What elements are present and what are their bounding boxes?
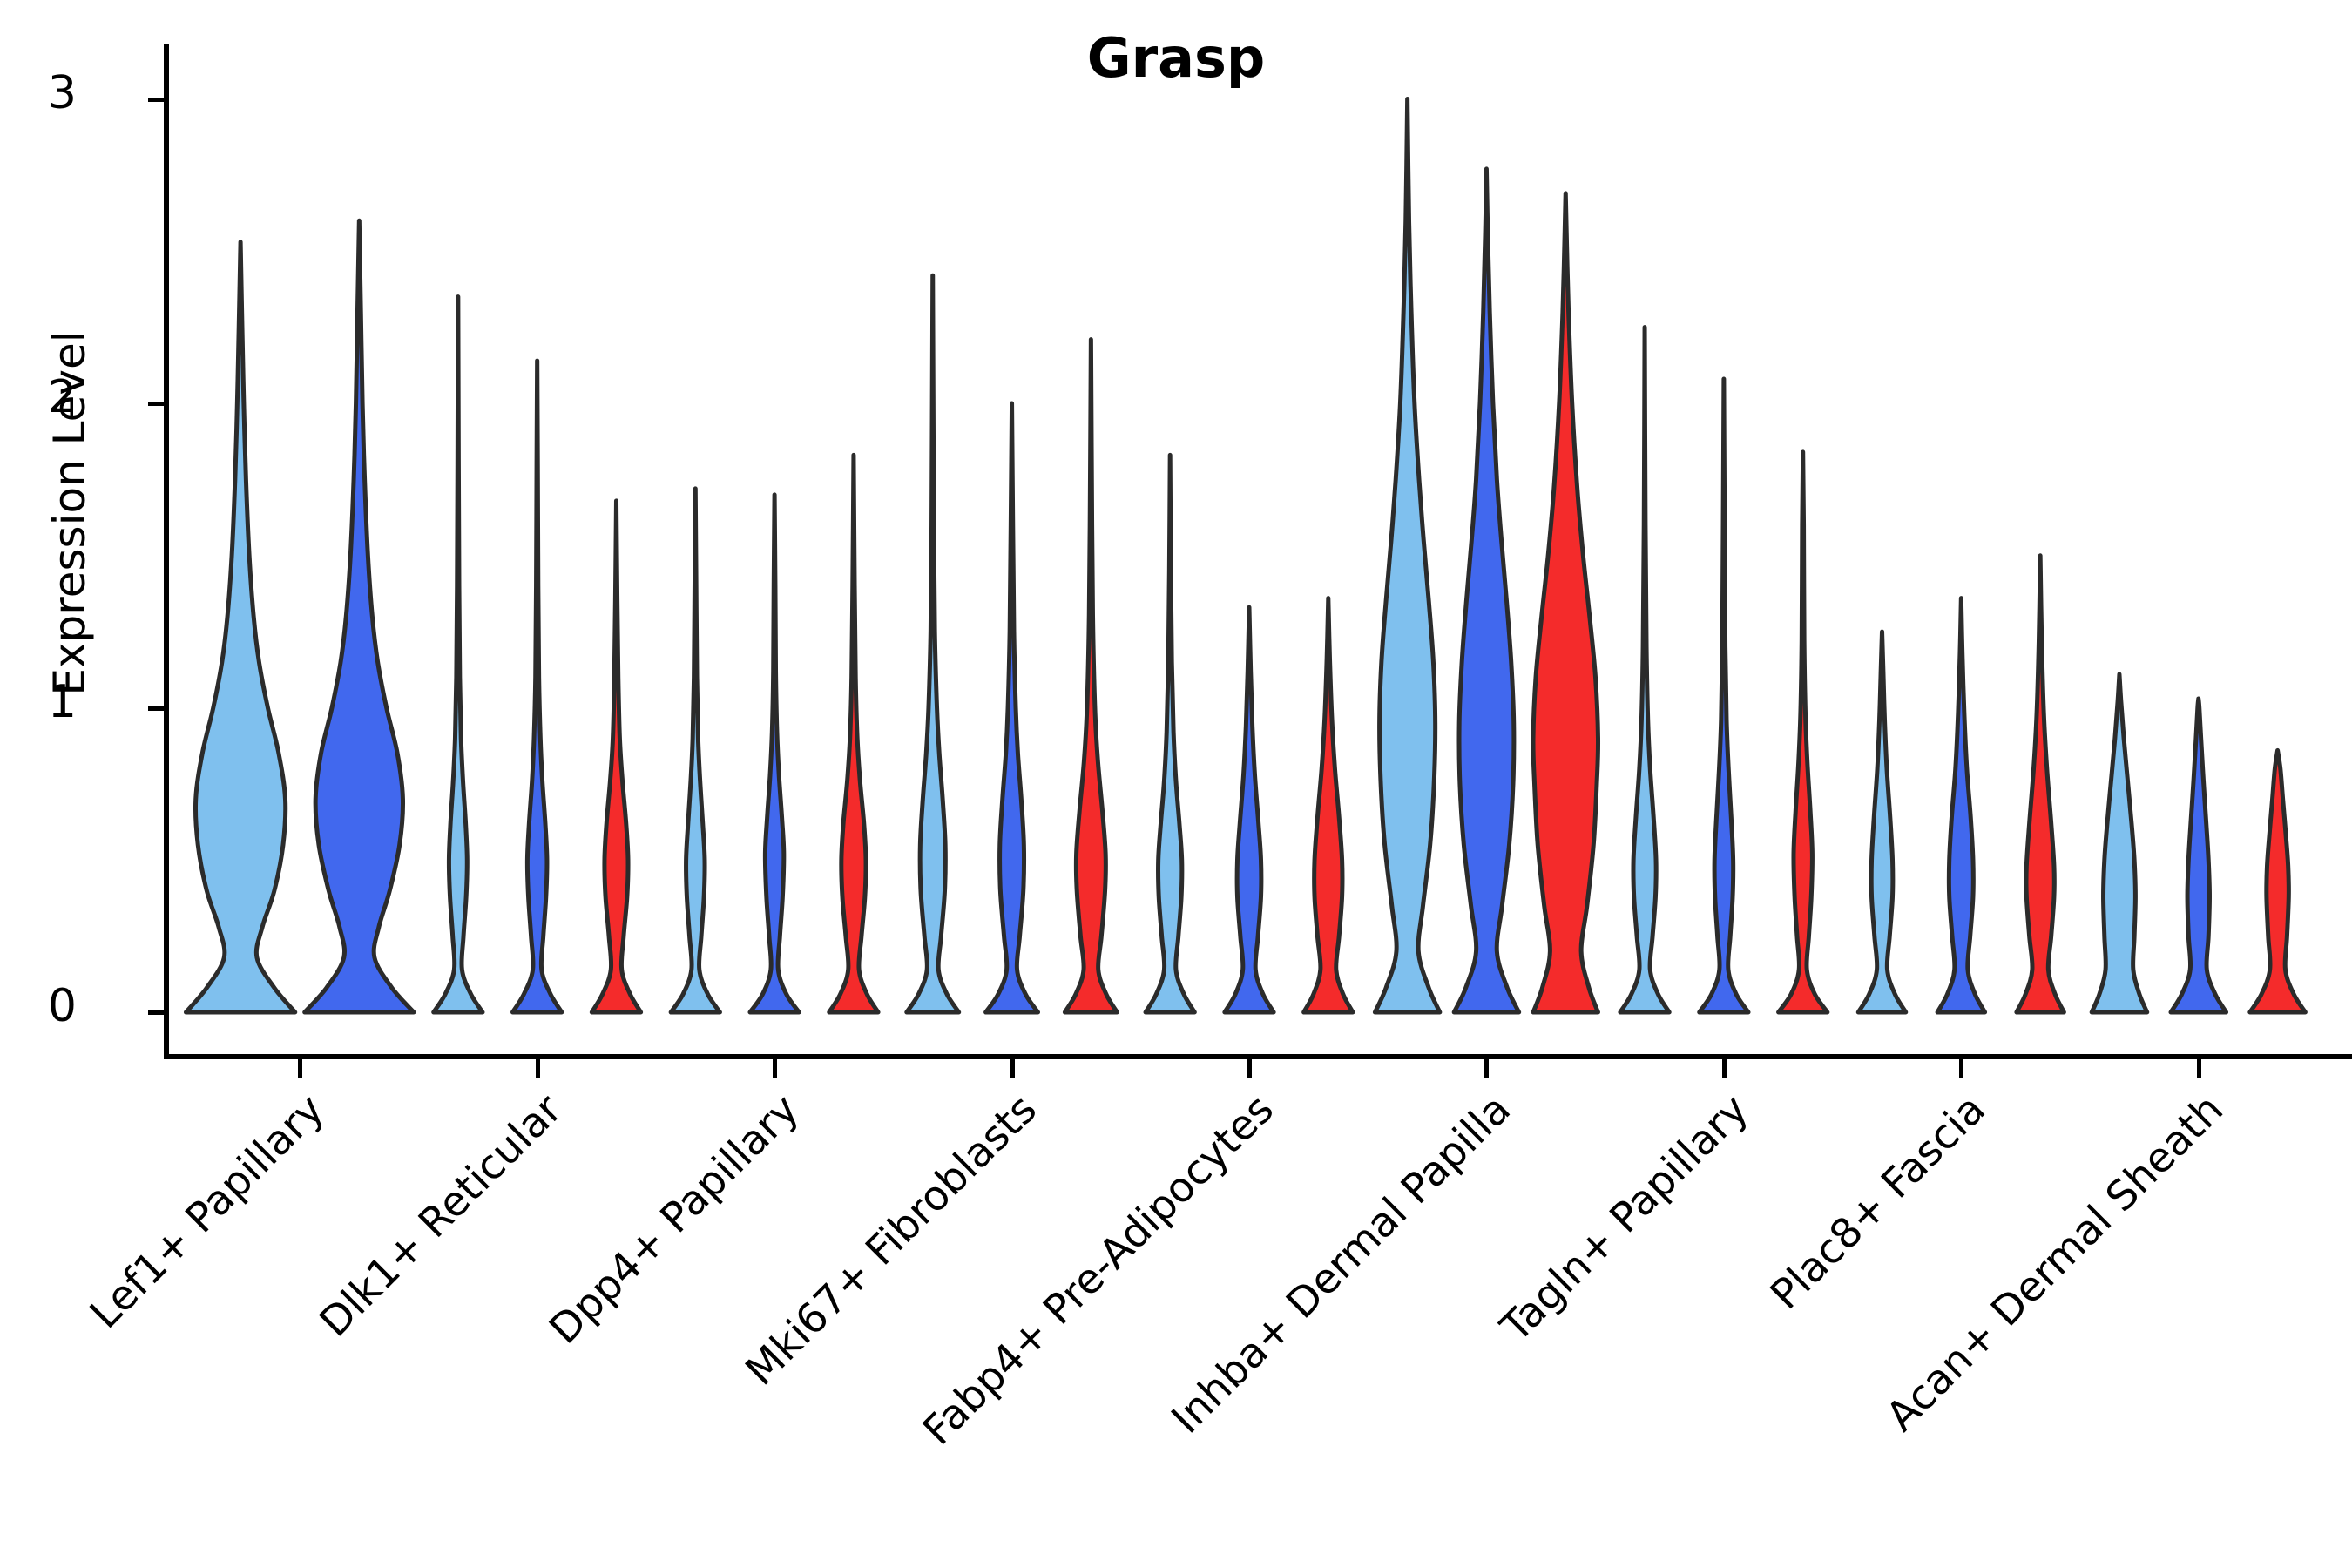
violin-shape bbox=[750, 495, 799, 1012]
violin-shape bbox=[1937, 598, 1984, 1012]
violin-shape bbox=[1375, 99, 1439, 1013]
violin-shape bbox=[1620, 328, 1669, 1012]
violin-shape bbox=[1858, 632, 1905, 1012]
violin-shape bbox=[986, 403, 1038, 1012]
violin-shape bbox=[1225, 607, 1274, 1012]
violin-shape bbox=[1304, 598, 1353, 1012]
violin-shape bbox=[671, 489, 720, 1012]
violin-shape bbox=[513, 361, 562, 1012]
violin-shape bbox=[305, 220, 414, 1012]
violin-shape bbox=[1779, 452, 1828, 1012]
violin-shape bbox=[2171, 699, 2227, 1012]
violin-shape bbox=[1533, 193, 1598, 1012]
violin-shape bbox=[186, 242, 294, 1012]
violin-shape bbox=[434, 297, 483, 1012]
violin-shape bbox=[591, 501, 640, 1012]
violin-shape bbox=[1146, 455, 1194, 1012]
violin-shape bbox=[1454, 169, 1518, 1012]
violin-plot-figure: Grasp Expression Level 0123 Lef1+ Papill… bbox=[0, 0, 2352, 1568]
violin-shapes-layer bbox=[0, 0, 2352, 1568]
violin-shape bbox=[2017, 556, 2064, 1012]
violin-shape bbox=[2092, 674, 2147, 1012]
violin-shape bbox=[907, 275, 959, 1012]
violin-shape bbox=[2250, 750, 2306, 1012]
violin-shape bbox=[1700, 379, 1748, 1012]
violin-shape bbox=[1064, 340, 1117, 1012]
violin-shape bbox=[829, 455, 878, 1012]
